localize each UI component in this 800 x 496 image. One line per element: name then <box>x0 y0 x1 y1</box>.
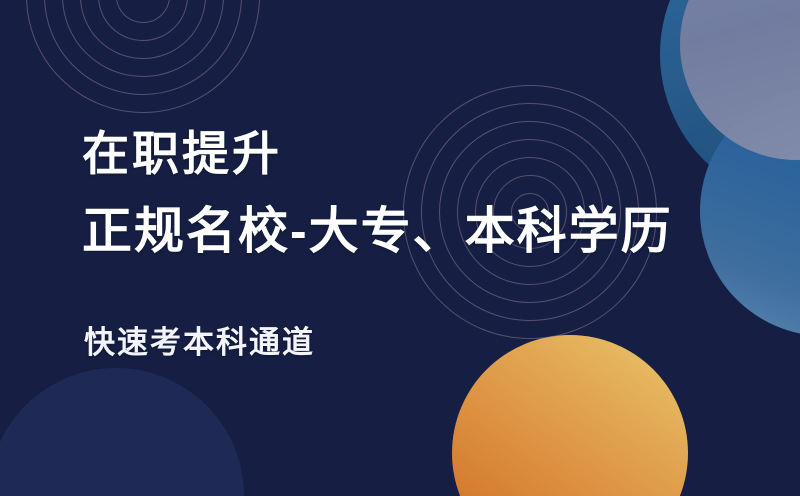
headline-line-1: 在职提升 <box>82 128 282 180</box>
sub-headline: 快速考本科通道 <box>84 324 315 362</box>
banner-content: 在职提升 正规名校-大专、本科学历 快速考本科通道 <box>82 0 742 496</box>
headline-line-2: 正规名校-大专、本科学历 <box>82 203 673 259</box>
promotional-banner: 在职提升 正规名校-大专、本科学历 快速考本科通道 <box>0 0 800 496</box>
